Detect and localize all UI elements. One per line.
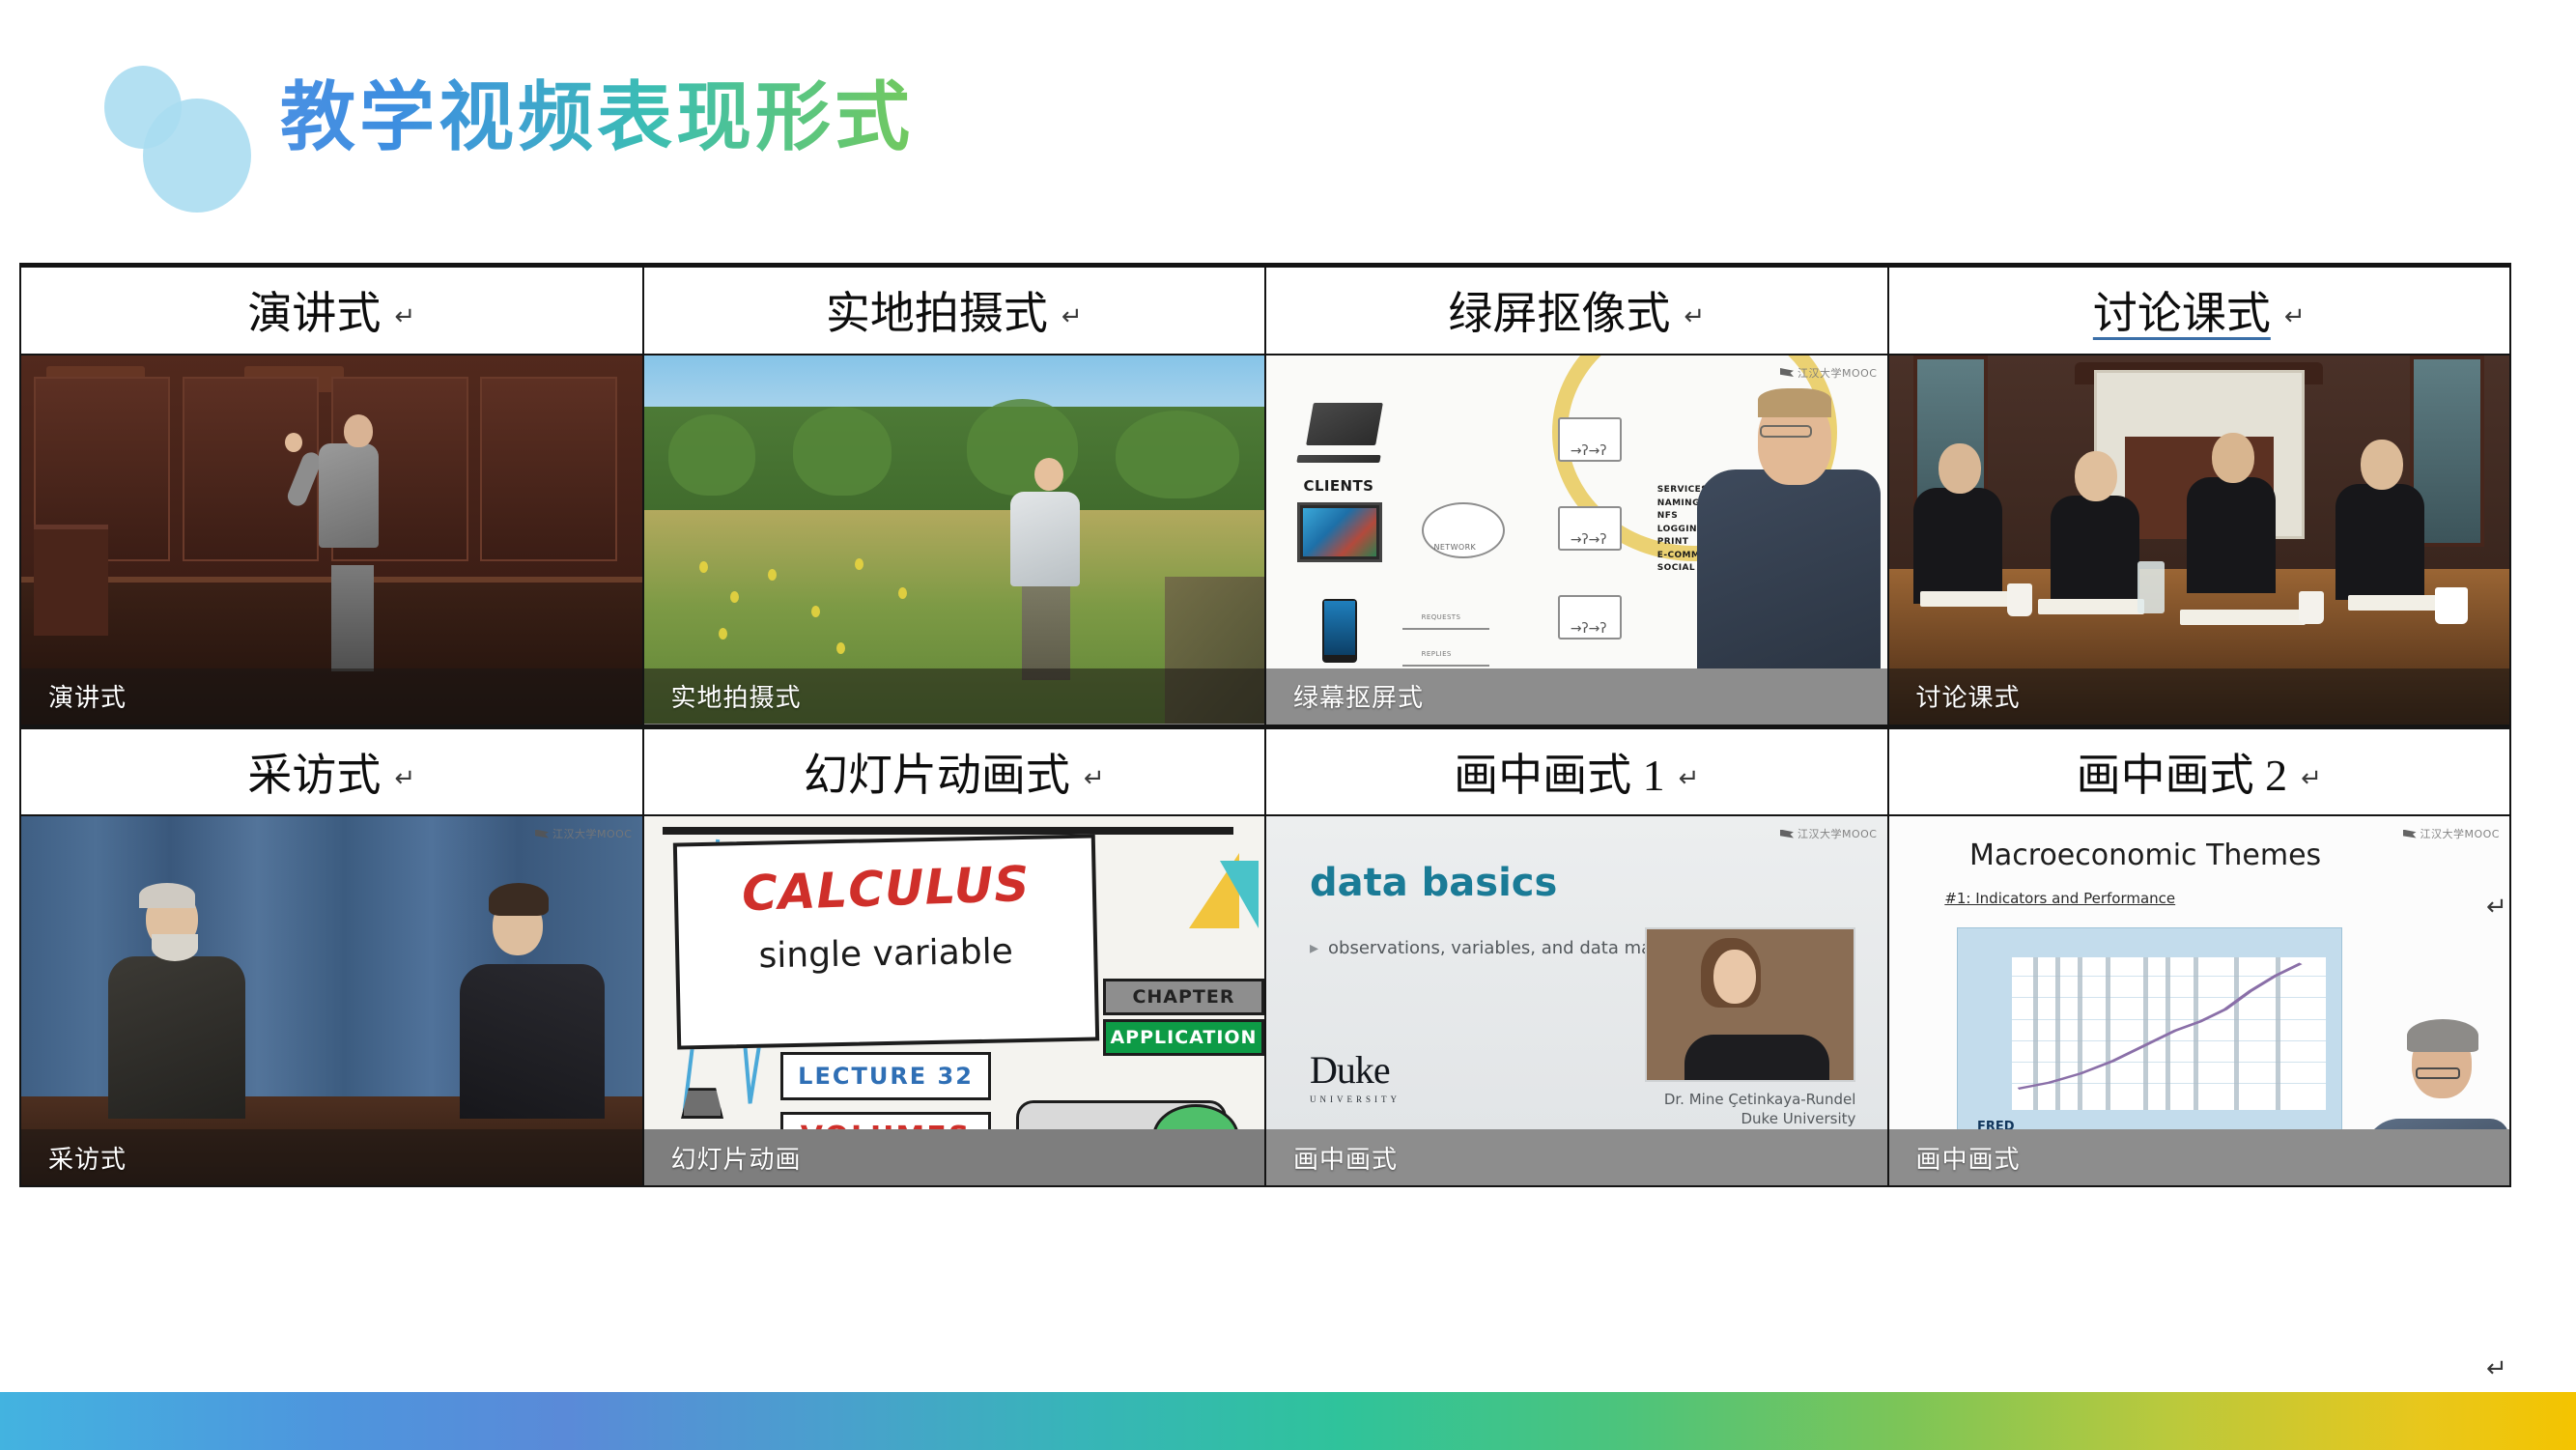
presenter-credit: Dr. Mine Çetinkaya-Rundel Duke Universit… [1645, 1090, 1855, 1129]
picture-in-picture-frame [1645, 927, 1855, 1082]
header-row-2: 采访式↵ 幻灯片动画式↵ 画中画式 1↵ 画中画式 2↵ [20, 726, 2510, 815]
chapter-label: CHAPTER [1103, 979, 1264, 1015]
participant-body [2335, 484, 2424, 600]
tree [793, 407, 892, 496]
flag-icon [535, 830, 549, 839]
video-style-table: 演讲式↵ 实地拍摄式↵ 绿屏抠像式↵ 讨论课式↵ [19, 263, 2511, 1187]
thumbnail-caption-bar: 画中画式 [1266, 1129, 1887, 1185]
pilcrow-mark-row2: ↵ [2486, 1354, 2507, 1383]
laptop-icon [1306, 403, 1383, 445]
coffee-mug [2435, 587, 2468, 624]
thumbnail-caption: 采访式 [21, 1140, 127, 1176]
thumbnail-caption: 画中画式 [1266, 1140, 1398, 1176]
thumbnail-cell[interactable]: CLIENTS NETWORK →ʔ→ʔ →ʔ→ʔ [1265, 355, 1888, 727]
pilcrow-mark: ↵ [1062, 302, 1083, 331]
flower [719, 628, 727, 640]
chart-plot-area [2012, 957, 2326, 1110]
watermark-logo: 江汉大学MOOC [2403, 826, 2501, 841]
pilcrow-mark: ↵ [2284, 302, 2306, 331]
video-thumbnail-greenscreen[interactable]: CLIENTS NETWORK →ʔ→ʔ →ʔ→ʔ [1266, 355, 1887, 725]
thumbnail-caption-bar: 演讲式 [21, 668, 642, 725]
interviewer-body [460, 964, 605, 1119]
table-header-cell: 画中画式 2↵ [1888, 726, 2511, 815]
interviewee-body [108, 956, 245, 1119]
presenter-body [1684, 1035, 1829, 1082]
thumbnail-caption: 画中画式 [1889, 1140, 2021, 1176]
requests-arrow [1402, 628, 1489, 630]
table-header-cell: 讨论课式↵ [1888, 266, 2511, 355]
speaker-body [319, 443, 379, 548]
slide-header: 教学视频表现形式 [0, 0, 2576, 242]
flag-icon [1780, 830, 1794, 839]
requests-label: REQUESTS [1422, 613, 1461, 621]
presenter-name: Dr. Mine Çetinkaya-Rundel [1645, 1090, 1855, 1109]
watermark-text: 江汉大学MOOC [552, 826, 633, 841]
table-header-cell: 绿屏抠像式↵ [1265, 266, 1888, 355]
header-label: 绿屏抠像式 [1448, 289, 1670, 338]
monitor-icon [1297, 502, 1382, 562]
pilcrow-mark: ↵ [2301, 764, 2322, 793]
footer-gradient-bar [0, 1392, 2576, 1450]
presenter-head [1713, 950, 1756, 1004]
duke-logo: Duke UNIVERSITY [1310, 1047, 1401, 1104]
slide-bullet: observations, variables, and data matric… [1310, 938, 1700, 958]
video-thumbnail-interview[interactable]: 江汉大学MOOC 采访式 [21, 816, 642, 1185]
pilcrow-mark: ↵ [1084, 764, 1105, 793]
watermark-text: 江汉大学MOOC [1798, 826, 1878, 841]
watermark-logo: 江汉大学MOOC [535, 826, 633, 841]
speaker-hand [285, 433, 302, 452]
circle-large-icon [143, 99, 251, 213]
fred-chart: FRED [1957, 927, 2341, 1142]
paper-sheet [2180, 610, 2306, 625]
thumbnail-cell[interactable]: data basics observations, variables, and… [1265, 815, 1888, 1186]
thumbnail-caption: 幻灯片动画 [644, 1140, 802, 1176]
thumbnail-caption-bar: 采访式 [21, 1129, 642, 1185]
table-header-cell: 采访式↵ [20, 726, 643, 815]
thumbnail-cell[interactable]: 演讲式 [20, 355, 643, 727]
watermark-logo: 江汉大学MOOC [1780, 826, 1878, 841]
video-thumbnail-lecture[interactable]: 演讲式 [21, 355, 642, 725]
lecture-label: LECTURE 32 [780, 1052, 991, 1100]
thumbnail-caption-bar: 幻灯片动画 [644, 1129, 1265, 1185]
table-header-cell: 实地拍摄式↵ [643, 266, 1266, 355]
thumbnail-cell[interactable]: 江汉大学MOOC 采访式 [20, 815, 643, 1186]
pilcrow-mark: ↵ [394, 764, 415, 793]
hanging-rod [663, 827, 1233, 835]
decorative-circles [104, 66, 269, 186]
participant-body [2051, 496, 2139, 611]
video-thumbnail-animation[interactable]: CALCULUS single variable LECTURE 32 VOLU… [644, 816, 1265, 1185]
podium [34, 525, 108, 636]
participant-head [2212, 433, 2254, 483]
participant-head [2361, 440, 2403, 490]
thumbnail-row-2: 江汉大学MOOC 采访式 C [20, 815, 2510, 1186]
header-label: 采访式 [247, 751, 381, 800]
phone-screen [1324, 601, 1355, 655]
paper-cup [2007, 583, 2032, 616]
page-title: 教学视频表现形式 [280, 60, 914, 176]
flower [836, 642, 845, 654]
thumbnail-cell[interactable]: 讨论课式 [1888, 355, 2511, 727]
watermark-logo: 江汉大学MOOC [1780, 365, 1878, 381]
video-thumbnail-discussion[interactable]: 讨论课式 [1889, 355, 2510, 725]
duke-logo-text: Duke [1310, 1048, 1390, 1092]
application-label: APPLICATION [1103, 1019, 1264, 1056]
table-header-cell: 演讲式↵ [20, 266, 643, 355]
header-row-1: 演讲式↵ 实地拍摄式↵ 绿屏抠像式↵ 讨论课式↵ [20, 266, 2510, 355]
presenter-glasses-icon [2416, 1067, 2460, 1079]
thumbnail-caption: 讨论课式 [1889, 678, 2021, 714]
thumbnail-caption-bar: 绿幕抠屏式 [1266, 668, 1887, 725]
presenter-hair [1758, 388, 1831, 417]
thumbnail-caption: 演讲式 [21, 678, 127, 714]
flower [768, 569, 777, 581]
phone-icon [1322, 599, 1357, 663]
network-label: NETWORK [1433, 543, 1476, 552]
thumbnail-cell[interactable]: Macroeconomic Themes #1: Indicators and … [1888, 815, 2511, 1186]
paper-cup [2299, 591, 2324, 624]
duke-logo-sub: UNIVERSITY [1310, 1095, 1401, 1104]
table-header-cell: 画中画式 1↵ [1265, 726, 1888, 815]
watermark-text: 江汉大学MOOC [1798, 365, 1878, 381]
header-label: 演讲式 [247, 289, 381, 338]
presenter-affiliation: Duke University [1645, 1109, 1855, 1128]
watermark-text: 江汉大学MOOC [2420, 826, 2501, 841]
monitor-screen [1303, 508, 1376, 556]
pilcrow-mark-row1: ↵ [2486, 893, 2507, 922]
tree [1116, 411, 1240, 499]
water-glass [2137, 561, 2165, 613]
interviewee-beard [152, 934, 198, 961]
participant-body [1913, 488, 2002, 604]
video-thumbnail-pip-1[interactable]: data basics observations, variables, and… [1266, 816, 1887, 1185]
gdp-line-series [2012, 957, 2326, 1110]
calculus-subtitle: single variable [694, 931, 1079, 978]
presenter-hair [2407, 1019, 2478, 1052]
slide-title: data basics [1310, 861, 1557, 905]
thumbnail-caption: 绿幕抠屏式 [1266, 678, 1424, 714]
triangle-shape-2 [1220, 861, 1259, 928]
paper-sheet [1920, 591, 2017, 607]
pilcrow-mark: ↵ [394, 302, 415, 331]
thumbnail-cell[interactable]: 实地拍摄式 [643, 355, 1266, 727]
laptop-base-icon [1296, 455, 1380, 463]
thumbnail-caption-bar: 讨论课式 [1889, 668, 2510, 725]
speaker-head [344, 414, 373, 447]
pilcrow-mark: ↵ [1679, 764, 1700, 793]
presenter-body [1010, 492, 1080, 586]
replies-label: REPLIES [1422, 650, 1452, 658]
presenter-glasses-icon [1760, 425, 1812, 438]
wall-panel [480, 377, 616, 561]
header-label: 幻灯片动画式 [804, 751, 1070, 800]
header-label-link[interactable]: 讨论课式 [2093, 289, 2271, 338]
tree [668, 414, 755, 496]
thumbnail-cell[interactable]: CALCULUS single variable LECTURE 32 VOLU… [643, 815, 1266, 1186]
interviewer-hair [489, 883, 549, 916]
flower [898, 587, 907, 599]
speaker-legs [331, 565, 374, 671]
video-thumbnail-pip-2[interactable]: Macroeconomic Themes #1: Indicators and … [1889, 816, 2510, 1185]
pilcrow-mark: ↵ [1684, 302, 1705, 331]
thumbnail-row-1: 演讲式 [20, 355, 2510, 727]
participant-head [2075, 451, 2117, 501]
interviewee-hair [139, 883, 195, 908]
slide-subtitle: #1: Indicators and Performance [1944, 890, 2175, 907]
thumbnail-caption-bar: 画中画式 [1889, 1129, 2510, 1185]
header-label: 画中画式 2 [2077, 751, 2288, 800]
clients-label: CLIENTS [1304, 477, 1374, 495]
table-header-cell: 幻灯片动画式↵ [643, 726, 1266, 815]
flag-icon [1780, 368, 1794, 377]
video-thumbnail-field[interactable]: 实地拍摄式 [644, 355, 1265, 725]
participant-body [2187, 477, 2276, 593]
thumbnail-caption-bar: 实地拍摄式 [644, 668, 1265, 725]
header-label: 画中画式 1 [1454, 751, 1665, 800]
slide-title: Macroeconomic Themes [1969, 839, 2321, 872]
slide-subtitle-text: #1: Indicators and Performance [1944, 890, 2175, 907]
flag-icon [2403, 830, 2417, 839]
replies-arrow [1402, 665, 1489, 667]
participant-head [1939, 443, 1981, 494]
header-label: 实地拍摄式 [826, 289, 1048, 338]
paper-sheet [2038, 599, 2144, 614]
thumbnail-caption: 实地拍摄式 [644, 678, 802, 714]
presenter-legs [1022, 583, 1070, 680]
flower [855, 558, 863, 570]
